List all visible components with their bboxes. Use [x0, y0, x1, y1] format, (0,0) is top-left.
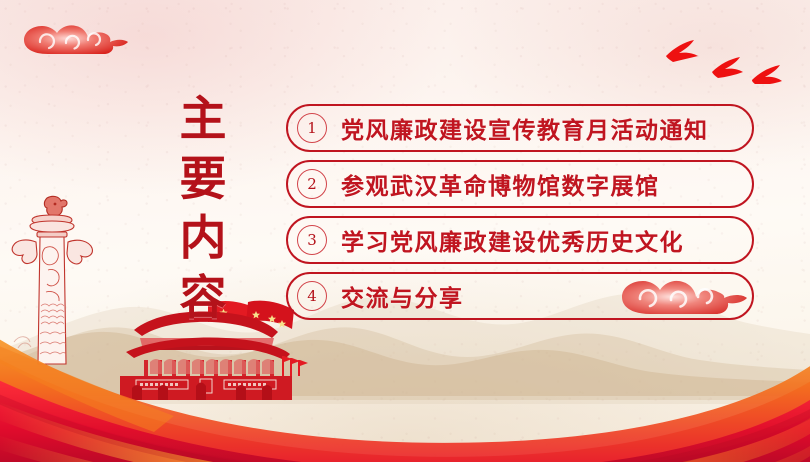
agenda-label-4: 交流与分享 [341, 279, 464, 313]
agenda-number-3: 3 [297, 225, 327, 255]
agenda-item-1[interactable]: 1 党风廉政建设宣传教育月活动通知 [286, 104, 754, 152]
agenda-number-1: 1 [297, 113, 327, 143]
red-ribbon-wave-icon [0, 296, 810, 462]
agenda-label-3: 学习党风廉政建设优秀历史文化 [341, 223, 684, 257]
title-char-4: 容 [180, 275, 227, 322]
agenda-item-3[interactable]: 3 学习党风廉政建设优秀历史文化 [286, 216, 754, 264]
flying-birds-icon [660, 22, 790, 84]
title-char-1: 主 [180, 96, 227, 143]
page-title-vertical: 主 要 内 容 [168, 96, 238, 322]
agenda-number-2: 2 [297, 169, 327, 199]
agenda-item-4[interactable]: 4 交流与分享 [286, 272, 754, 320]
slide-canvas: 主 要 内 容 1 党风廉政建设宣传教育月活动通知 2 参观武汉革命博物馆数字展… [0, 0, 810, 462]
agenda-list: 1 党风廉政建设宣传教育月活动通知 2 参观武汉革命博物馆数字展馆 3 学习党风… [286, 104, 754, 320]
agenda-number-4: 4 [297, 281, 327, 311]
title-char-2: 要 [180, 156, 227, 203]
agenda-label-2: 参观武汉革命博物馆数字展馆 [341, 167, 660, 201]
agenda-label-1: 党风廉政建设宣传教育月活动通知 [341, 111, 709, 145]
title-char-3: 内 [180, 215, 227, 262]
auspicious-cloud-top-left-icon [18, 18, 130, 68]
agenda-item-2[interactable]: 2 参观武汉革命博物馆数字展馆 [286, 160, 754, 208]
